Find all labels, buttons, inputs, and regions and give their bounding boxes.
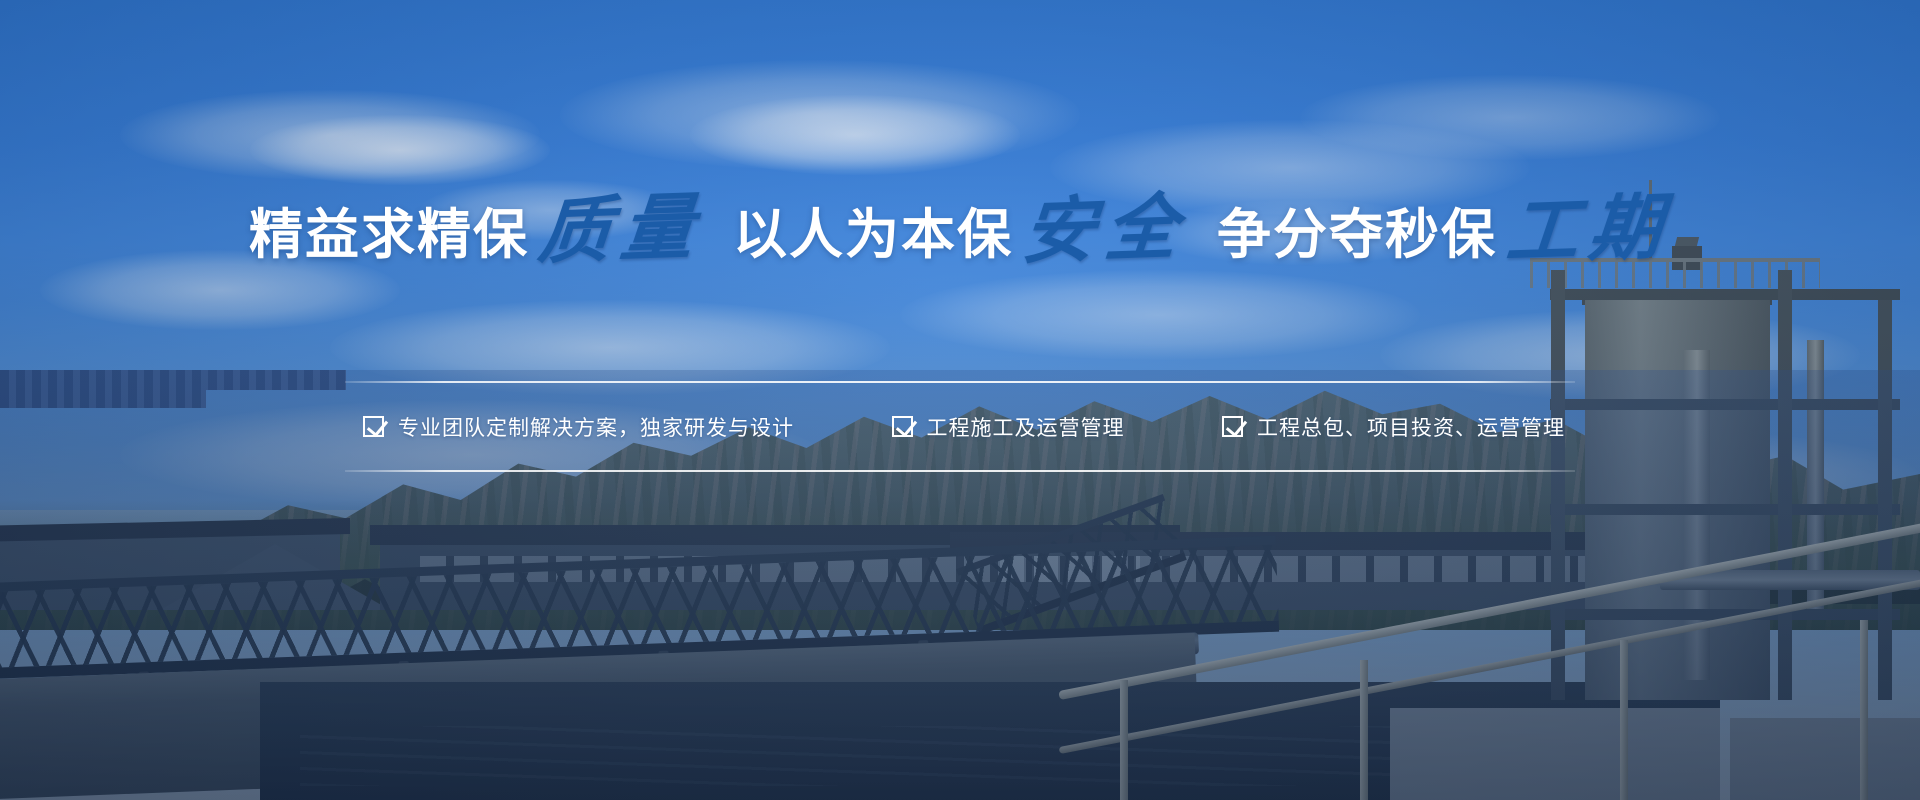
feature-label: 工程施工及运营管理: [927, 412, 1125, 442]
handrail-post: [1120, 680, 1128, 800]
headline-callig-text: 安全: [1020, 193, 1190, 265]
checkbox-checked-icon: [1222, 416, 1243, 437]
divider-bottom: [345, 470, 1575, 472]
cloud: [900, 270, 1420, 360]
checkbox-checked-icon: [363, 416, 384, 437]
feature-label: 专业团队定制解决方案，独家研发与设计: [398, 412, 794, 442]
cloud: [250, 115, 550, 185]
cloud: [120, 90, 540, 180]
headline-segment-quality: 精益求精保 质量: [249, 196, 703, 262]
feature-list: 专业团队定制解决方案，独家研发与设计 工程施工及运营管理 工程总包、项目投资、运…: [345, 383, 1575, 470]
feature-item-epc[interactable]: 工程总包、项目投资、运营管理: [1222, 412, 1565, 442]
headline-callig-text: 质量: [536, 193, 706, 265]
handrail-post: [1360, 660, 1368, 800]
foreground-handrail: [1060, 590, 1920, 800]
handrail-post: [1860, 620, 1868, 800]
hero-banner: 精益求精保 质量 以人为本保 安全 争分夺秒保 工期 专业团队定制解决方案，独家…: [0, 0, 1920, 800]
blue-roof-panel: [0, 370, 346, 390]
checkbox-checked-icon: [892, 416, 913, 437]
headline: 精益求精保 质量 以人为本保 安全 争分夺秒保 工期: [0, 196, 1920, 262]
cloud: [690, 95, 1020, 175]
frame-beam: [1550, 504, 1900, 515]
headline-segment-safety: 以人为本保 安全: [733, 196, 1187, 262]
headline-segment-schedule: 争分夺秒保 工期: [1217, 196, 1671, 262]
feature-label: 工程总包、项目投资、运营管理: [1257, 412, 1565, 442]
headline-callig-text: 工期: [1504, 193, 1674, 265]
headline-plain-text: 以人为本保: [733, 208, 1013, 262]
feature-item-construction[interactable]: 工程施工及运营管理: [892, 412, 1125, 442]
handrail-mid-bar: [1059, 575, 1920, 754]
handrail-post: [1620, 640, 1628, 800]
cloud: [560, 60, 1080, 170]
frame-beam: [1550, 399, 1900, 410]
cloud: [1300, 75, 1720, 160]
feature-strip: 专业团队定制解决方案，独家研发与设计 工程施工及运营管理 工程总包、项目投资、运…: [345, 381, 1575, 472]
headline-plain-text: 精益求精保: [249, 208, 529, 262]
blue-roof-panel: [0, 390, 206, 408]
frame-beam: [1550, 289, 1900, 300]
headline-plain-text: 争分夺秒保: [1217, 208, 1497, 262]
feature-item-solutions[interactable]: 专业团队定制解决方案，独家研发与设计: [363, 412, 794, 442]
